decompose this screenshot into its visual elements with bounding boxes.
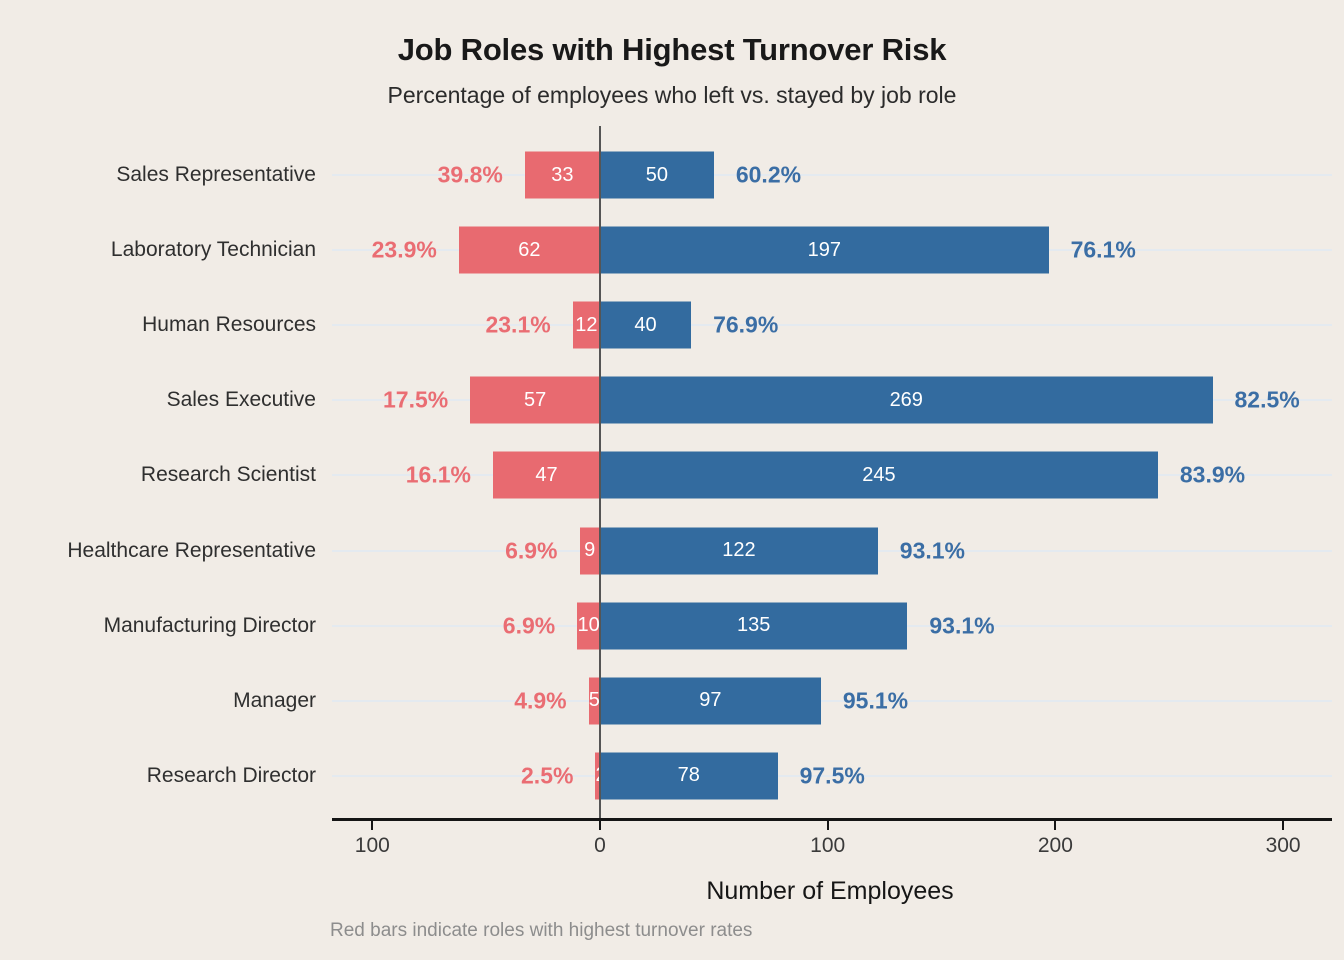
left-percentage-label: 4.9% — [514, 687, 566, 714]
zero-reference-line — [599, 126, 601, 818]
x-axis-tick-label: 200 — [1005, 834, 1105, 858]
bar-right-employees-who-stayed[interactable]: 245 — [600, 452, 1158, 499]
right-percentage-label: 95.1% — [843, 687, 908, 714]
y-axis-category-label: Manager — [233, 689, 316, 713]
gridline — [332, 324, 1332, 326]
y-axis-category-label: Sales Representative — [116, 163, 316, 187]
bar-value-label: 135 — [600, 614, 907, 637]
y-axis-category-label: Sales Executive — [167, 388, 316, 412]
gridline — [332, 700, 1332, 702]
bar-right-employees-who-stayed[interactable]: 269 — [600, 377, 1213, 424]
bar-value-label: 50 — [600, 164, 714, 187]
bar-right-employees-who-stayed[interactable]: 50 — [600, 152, 714, 199]
x-axis-tick-label: 100 — [778, 834, 878, 858]
bar-right-employees-who-stayed[interactable]: 40 — [600, 302, 691, 349]
y-axis-category-label: Laboratory Technician — [111, 238, 316, 262]
bar-value-label: 269 — [600, 389, 1213, 412]
y-axis-category-label: Manufacturing Director — [104, 614, 316, 638]
x-axis-tick-mark — [1054, 821, 1056, 830]
bar-left-employees-who-left[interactable]: 10 — [577, 602, 600, 649]
left-percentage-label: 39.8% — [438, 162, 503, 189]
bar-value-label: 12 — [573, 314, 600, 337]
left-percentage-label: 6.9% — [503, 612, 555, 639]
bar-left-employees-who-left[interactable]: 12 — [573, 302, 600, 349]
y-axis-category-label: Research Scientist — [141, 463, 316, 487]
bar-value-label: 33 — [525, 164, 600, 187]
plot-area: Sales Representative335039.8%60.2%Labora… — [0, 0, 1344, 960]
bar-value-label: 47 — [493, 464, 600, 487]
bar-value-label: 40 — [600, 314, 691, 337]
bar-value-label: 62 — [459, 239, 600, 262]
right-percentage-label: 82.5% — [1235, 387, 1300, 414]
bar-right-employees-who-stayed[interactable]: 122 — [600, 527, 878, 574]
x-axis-line — [332, 818, 1332, 821]
bar-left-employees-who-left[interactable]: 33 — [525, 152, 600, 199]
left-percentage-label: 23.9% — [372, 237, 437, 264]
right-percentage-label: 76.9% — [713, 312, 778, 339]
x-axis-tick-mark — [599, 821, 601, 830]
right-percentage-label: 76.1% — [1071, 237, 1136, 264]
x-axis-tick-label: 100 — [322, 834, 422, 858]
right-percentage-label: 83.9% — [1180, 462, 1245, 489]
left-percentage-label: 23.1% — [485, 312, 550, 339]
y-axis-category-label: Research Director — [147, 764, 316, 788]
bar-value-label: 97 — [600, 689, 821, 712]
x-axis-tick-label: 300 — [1233, 834, 1333, 858]
bar-value-label: 78 — [600, 764, 778, 787]
bar-right-employees-who-stayed[interactable]: 197 — [600, 227, 1049, 274]
turnover-risk-chart: Job Roles with Highest Turnover Risk Per… — [0, 0, 1344, 960]
x-axis-tick-label: 0 — [550, 834, 650, 858]
bar-value-label: 9 — [580, 539, 600, 562]
left-percentage-label: 17.5% — [383, 387, 448, 414]
bar-value-label: 57 — [470, 389, 600, 412]
bar-value-label: 10 — [577, 614, 600, 637]
left-percentage-label: 16.1% — [406, 462, 471, 489]
bar-left-employees-who-left[interactable]: 62 — [459, 227, 600, 274]
right-percentage-label: 93.1% — [900, 537, 965, 564]
right-percentage-label: 60.2% — [736, 162, 801, 189]
right-percentage-label: 93.1% — [929, 612, 994, 639]
bar-value-label: 245 — [600, 464, 1158, 487]
left-percentage-label: 6.9% — [505, 537, 557, 564]
right-percentage-label: 97.5% — [800, 762, 865, 789]
y-axis-category-label: Human Resources — [142, 313, 316, 337]
x-axis-tick-mark — [1282, 821, 1284, 830]
chart-caption: Red bars indicate roles with highest tur… — [330, 920, 752, 942]
bar-left-employees-who-left[interactable]: 9 — [580, 527, 600, 574]
bar-right-employees-who-stayed[interactable]: 135 — [600, 602, 907, 649]
bar-left-employees-who-left[interactable]: 57 — [470, 377, 600, 424]
x-axis-tick-mark — [371, 821, 373, 830]
bar-value-label: 197 — [600, 239, 1049, 262]
bar-right-employees-who-stayed[interactable]: 78 — [600, 752, 778, 799]
x-axis-tick-mark — [827, 821, 829, 830]
bar-value-label: 122 — [600, 539, 878, 562]
bar-right-employees-who-stayed[interactable]: 97 — [600, 677, 821, 724]
y-axis-category-label: Healthcare Representative — [67, 539, 316, 563]
x-axis-title: Number of Employees — [330, 877, 1330, 906]
bar-left-employees-who-left[interactable]: 47 — [493, 452, 600, 499]
left-percentage-label: 2.5% — [521, 762, 573, 789]
